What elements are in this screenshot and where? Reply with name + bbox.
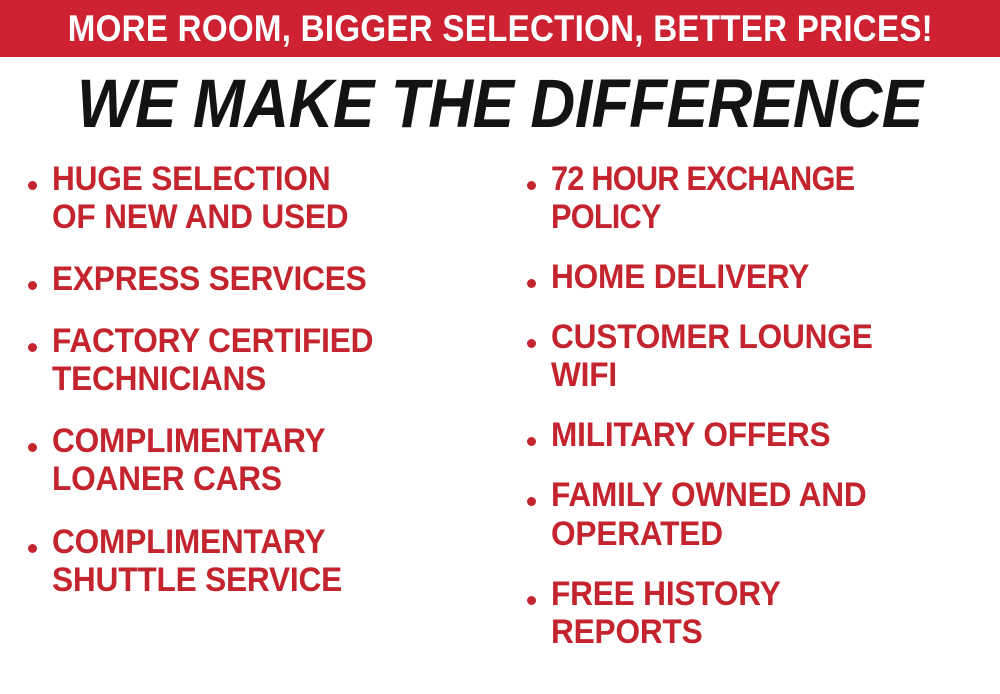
list-item: CUSTOMER LOUNGE WIFI	[521, 318, 996, 394]
benefits-column-right: 72 HOUR EXCHANGE POLICY HOME DELIVERY CU…	[521, 160, 996, 673]
bullet-dot-icon	[527, 339, 536, 348]
list-item-label: HOME DELIVERY	[551, 258, 965, 296]
list-item-label: 72 HOUR EXCHANGE POLICY	[551, 160, 954, 236]
list-item: HUGE SELECTION OF NEW AND USED	[22, 160, 492, 236]
bullet-dot-icon	[28, 443, 37, 452]
bullet-dot-icon	[527, 279, 536, 288]
list-item-label: COMPLIMENTARY SHUTTLE SERVICE	[52, 523, 461, 599]
bullet-dot-icon	[28, 281, 37, 290]
list-item: MILITARY OFFERS	[521, 416, 996, 454]
list-item-label: MILITARY OFFERS	[551, 416, 965, 454]
list-item: COMPLIMENTARY LOANER CARS	[22, 422, 492, 498]
list-item: EXPRESS SERVICES	[22, 260, 492, 298]
list-item: HOME DELIVERY	[521, 258, 996, 296]
list-item-label: FAMILY OWNED AND OPERATED	[551, 476, 965, 552]
banner-headline: MORE ROOM, BIGGER SELECTION, BETTER PRIC…	[67, 10, 932, 47]
benefits-columns: HUGE SELECTION OF NEW AND USED EXPRESS S…	[0, 160, 1000, 694]
list-item: FACTORY CERTIFIED TECHNICIANS	[22, 322, 492, 398]
bullet-dot-icon	[527, 596, 536, 605]
page-title: WE MAKE THE DIFFERENCE	[77, 69, 923, 138]
list-item: FAMILY OWNED AND OPERATED	[521, 476, 996, 552]
headline-container: WE MAKE THE DIFFERENCE	[0, 64, 1000, 142]
bullet-dot-icon	[28, 343, 37, 352]
list-item: 72 HOUR EXCHANGE POLICY	[521, 160, 996, 236]
list-item-label: HUGE SELECTION OF NEW AND USED	[52, 160, 461, 236]
benefits-column-left: HUGE SELECTION OF NEW AND USED EXPRESS S…	[22, 160, 492, 623]
bullet-dot-icon	[527, 181, 536, 190]
list-item-label: COMPLIMENTARY LOANER CARS	[52, 422, 461, 498]
bullet-dot-icon	[28, 181, 37, 190]
promo-poster: MORE ROOM, BIGGER SELECTION, BETTER PRIC…	[0, 0, 1000, 694]
bullet-dot-icon	[28, 544, 37, 553]
list-item: COMPLIMENTARY SHUTTLE SERVICE	[22, 523, 492, 599]
list-item-label: EXPRESS SERVICES	[52, 260, 461, 298]
bullet-dot-icon	[527, 437, 536, 446]
bullet-dot-icon	[527, 497, 536, 506]
list-item: FREE HISTORY REPORTS	[521, 575, 996, 651]
list-item-label: CUSTOMER LOUNGE WIFI	[551, 318, 965, 394]
list-item-label: FACTORY CERTIFIED TECHNICIANS	[52, 322, 461, 398]
top-banner: MORE ROOM, BIGGER SELECTION, BETTER PRIC…	[0, 0, 1000, 57]
list-item-label: FREE HISTORY REPORTS	[551, 575, 965, 651]
